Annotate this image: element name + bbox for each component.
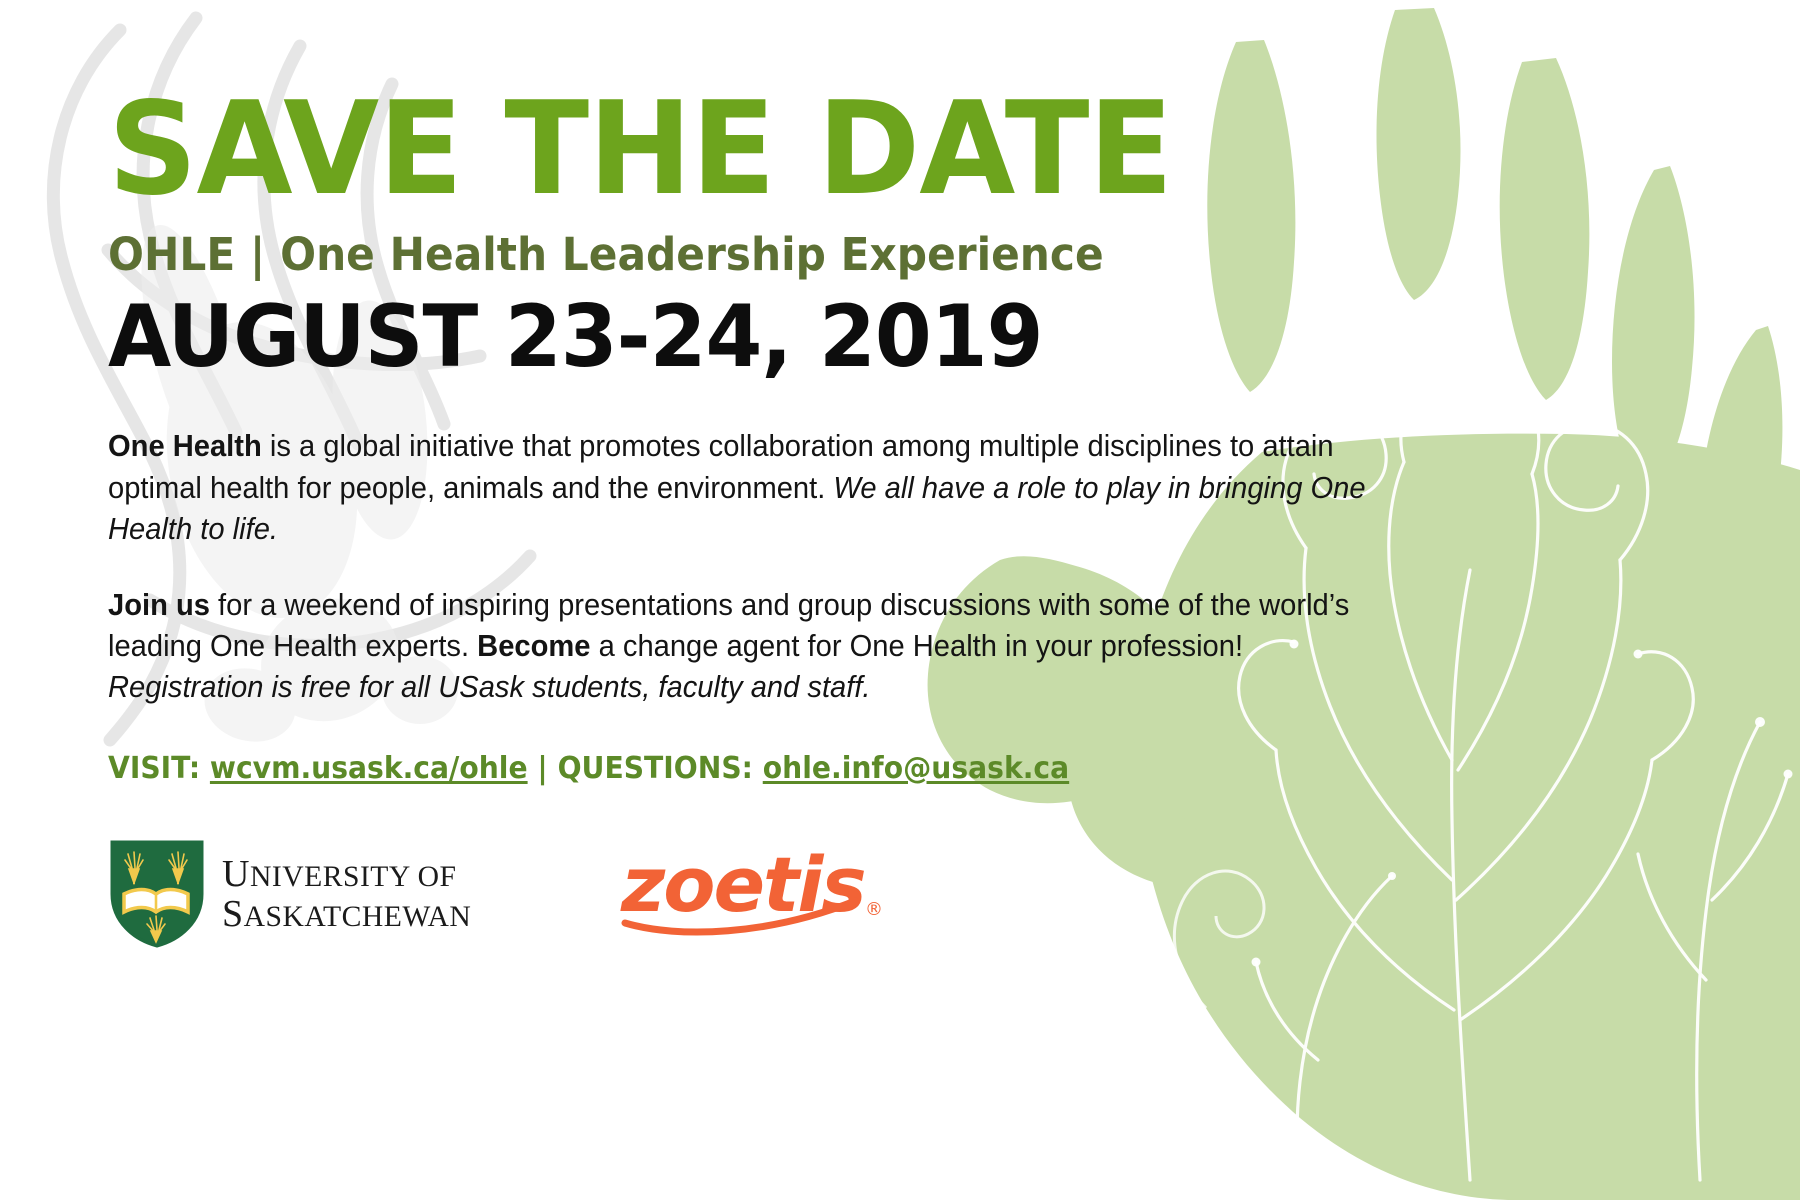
usask-wordmark-line2: SASKATCHEWAN bbox=[222, 895, 471, 933]
open-book-icon bbox=[124, 889, 188, 912]
email-link[interactable]: ohle.info@usask.ca bbox=[763, 751, 1069, 786]
svg-text:zoetis: zoetis bbox=[620, 840, 865, 929]
visit-label: VISIT: bbox=[108, 751, 200, 786]
event-date: AUGUST 23-24, 2019 bbox=[108, 294, 1362, 382]
questions-label: QUESTIONS: bbox=[558, 751, 753, 786]
usask-shield-icon bbox=[108, 838, 206, 950]
poster-content: SAVE THE DATE OHLE | One Health Leadersh… bbox=[108, 86, 1428, 950]
logo-row: UNIVERSITY OF SASKATCHEWAN zoetis ® bbox=[108, 838, 1428, 950]
usask-wordmark-line1: UNIVERSITY OF bbox=[222, 855, 471, 893]
zoetis-trademark: ® bbox=[865, 899, 883, 920]
save-the-date-poster: SAVE THE DATE OHLE | One Health Leadersh… bbox=[0, 0, 1800, 1200]
paragraph-two: Join us for a weekend of inspiring prese… bbox=[108, 585, 1388, 709]
university-of-saskatchewan-logo: UNIVERSITY OF SASKATCHEWAN bbox=[108, 838, 471, 950]
body-text: One Health is a global initiative that p… bbox=[108, 426, 1398, 709]
paragraph-two-text-two: a change agent for One Health in your pr… bbox=[591, 629, 1244, 663]
paragraph-two-italic: Registration is free for all USask stude… bbox=[108, 670, 871, 704]
zoetis-wordmark-icon: zoetis ® bbox=[619, 839, 919, 943]
contact-separator: | bbox=[537, 751, 547, 786]
zoetis-logo: zoetis ® bbox=[619, 839, 919, 948]
contact-line: VISIT: wcvm.usask.ca/ohle | QUESTIONS: o… bbox=[108, 751, 1349, 786]
page-title: SAVE THE DATE bbox=[108, 86, 1388, 214]
event-subtitle: OHLE | One Health Leadership Experience bbox=[108, 230, 1349, 280]
paragraph-one-lead: One Health bbox=[108, 429, 262, 463]
usask-wordmark: UNIVERSITY OF SASKATCHEWAN bbox=[222, 855, 471, 933]
paragraph-one: One Health is a global initiative that p… bbox=[108, 426, 1388, 550]
paragraph-two-lead: Join us bbox=[108, 588, 210, 622]
website-link[interactable]: wcvm.usask.ca/ohle bbox=[210, 751, 528, 786]
paragraph-two-lead-two: Become bbox=[477, 629, 590, 663]
